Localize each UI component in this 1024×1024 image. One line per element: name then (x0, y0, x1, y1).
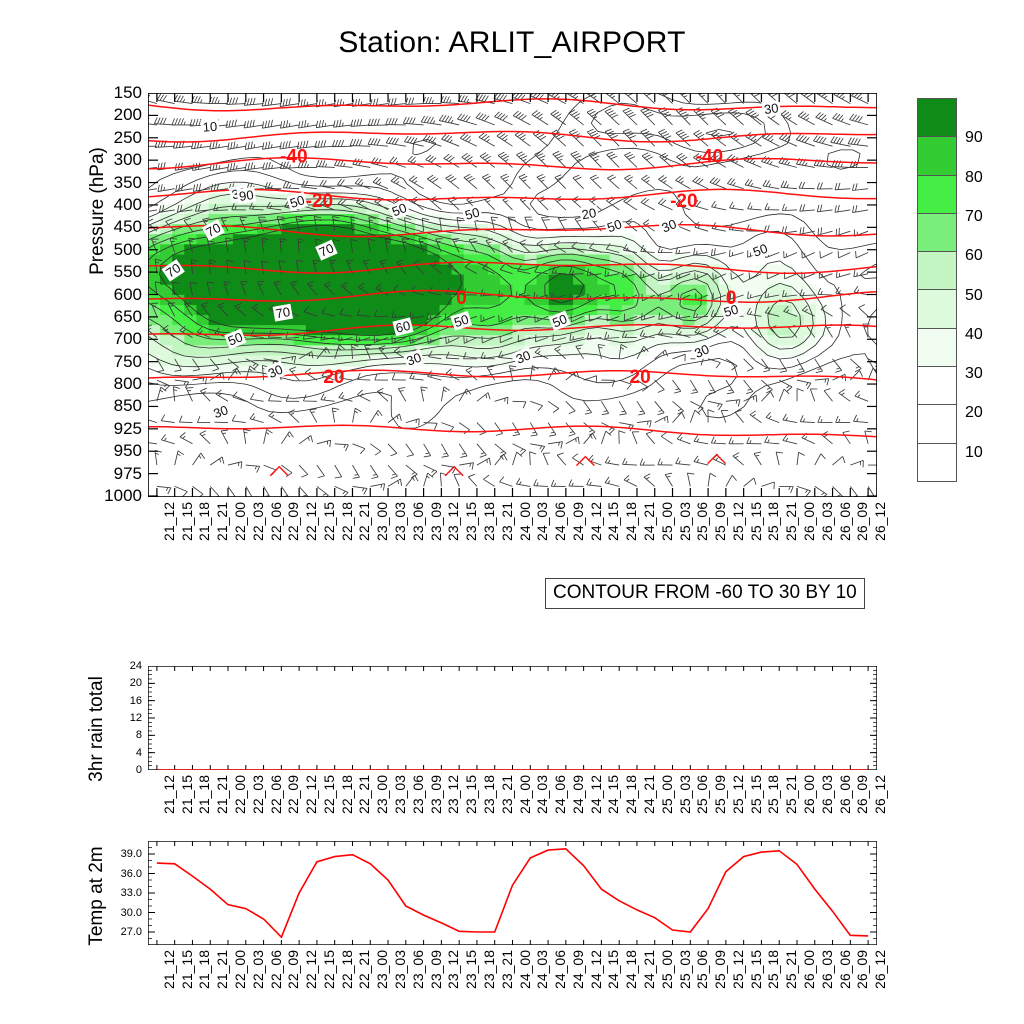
colorbar-tick-label: 10 (965, 444, 983, 462)
time-tick-label: 26_06 (837, 775, 853, 814)
time-tick-label: 23_03 (392, 775, 408, 814)
pressure-tick-label: 925 (82, 420, 142, 437)
colorbar-tick-label: 20 (965, 404, 983, 422)
cross-section-canvas: 1030309050505070707050305070506050505030… (148, 93, 877, 497)
time-tick-label: 24_21 (641, 950, 657, 989)
time-tick-label: 25_15 (748, 502, 764, 541)
time-tick-label: 21_21 (214, 950, 230, 989)
time-tick-label: 22_21 (356, 502, 372, 541)
time-tick-label: 23_21 (499, 775, 515, 814)
axis-tick-label: 33.0 (98, 887, 142, 899)
time-tick-label: 26_00 (801, 502, 817, 541)
time-tick-label: 26_03 (819, 502, 835, 541)
pressure-tick-label: 975 (82, 465, 142, 482)
time-tick-label: 24_00 (517, 775, 533, 814)
axis-tick-label: 27.0 (98, 926, 142, 938)
time-tick-label: 23_12 (445, 502, 461, 541)
time-tick-label: 24_12 (588, 950, 604, 989)
time-tick-label: 23_21 (499, 950, 515, 989)
axis-tick-label: 8 (98, 729, 142, 741)
time-tick-label: 24_15 (605, 502, 621, 541)
time-tick-label: 25_15 (748, 950, 764, 989)
time-tick-label: 22_15 (321, 950, 337, 989)
time-tick-label: 24_12 (588, 775, 604, 814)
time-tick-label: 22_18 (339, 502, 355, 541)
time-tick-label: 25_00 (659, 950, 675, 989)
time-tick-label: 23_15 (463, 775, 479, 814)
time-tick-label: 23_06 (410, 775, 426, 814)
humidity-contour-label: 10 (200, 119, 219, 135)
axis-tick-label: 16 (98, 695, 142, 707)
time-tick-label: 23_18 (481, 950, 497, 989)
time-tick-label: 24_18 (623, 502, 639, 541)
colorbar-tick-label: 30 (965, 365, 983, 383)
temp-canvas (148, 841, 877, 945)
colorbar-tick-label: 40 (965, 326, 983, 344)
time-tick-label: 26_03 (819, 775, 835, 814)
isotherm-label: -40 (696, 147, 723, 168)
temp-xaxis-labels: 21_1221_1521_1821_2122_0022_0322_0622_09… (148, 948, 877, 1012)
time-tick-label: 25_06 (694, 775, 710, 814)
colorbar-tick-label: 80 (965, 169, 983, 187)
pressure-tick-label: 150 (82, 84, 142, 101)
time-tick-label: 22_06 (268, 502, 284, 541)
time-tick-label: 24_21 (641, 775, 657, 814)
colorbar-swatch (917, 136, 957, 175)
contour-range-note: CONTOUR FROM -60 TO 30 BY 10 (545, 578, 865, 609)
svg-text:10: 10 (202, 119, 217, 135)
pressure-tick-label: 200 (82, 106, 142, 123)
time-tick-label: 24_18 (623, 950, 639, 989)
time-tick-label: 23_00 (374, 950, 390, 989)
time-tick-label: 26_09 (854, 950, 870, 989)
humidity-contour-label: 30 (761, 100, 781, 117)
time-tick-label: 23_03 (392, 502, 408, 541)
time-tick-label: 26_06 (837, 502, 853, 541)
humidity-contour-label: 90 (236, 187, 256, 204)
pressure-tick-label: 650 (82, 308, 142, 325)
main-xaxis-labels: 21_1221_1521_1821_2122_0022_0322_0622_09… (148, 500, 877, 564)
time-tick-label: 23_21 (499, 502, 515, 541)
time-tick-label: 23_00 (374, 775, 390, 814)
time-tick-label: 26_12 (872, 775, 888, 814)
time-tick-label: 26_06 (837, 950, 853, 989)
colorbar-tick-label: 50 (965, 287, 983, 305)
pressure-tick-label: 400 (82, 196, 142, 213)
time-tick-label: 24_21 (641, 502, 657, 541)
colorbar-swatch (917, 213, 957, 252)
temp-yaxis-ticks: 27.030.033.036.039.0 (98, 841, 148, 945)
time-tick-label: 24_03 (534, 502, 550, 541)
colorbar-swatch (917, 175, 957, 214)
pressure-tick-label: 550 (82, 263, 142, 280)
svg-text:20: 20 (580, 205, 597, 222)
colorbar-swatch (917, 289, 957, 328)
time-tick-label: 25_21 (783, 502, 799, 541)
isotherm-label: -20 (306, 191, 333, 212)
time-tick-label: 24_06 (552, 502, 568, 541)
time-tick-label: 23_09 (428, 502, 444, 541)
colorbar[interactable]: 908070605040302010 (917, 99, 957, 492)
colorbar-swatch (917, 366, 957, 405)
time-tick-label: 22_03 (250, 775, 266, 814)
time-tick-label: 21_21 (214, 502, 230, 541)
time-tick-label: 23_18 (481, 502, 497, 541)
rain-canvas (148, 666, 877, 770)
time-tick-label: 23_18 (481, 775, 497, 814)
time-tick-label: 22_15 (321, 502, 337, 541)
pressure-tick-label: 800 (82, 375, 142, 392)
time-tick-label: 21_18 (196, 502, 212, 541)
time-tick-label: 25_12 (730, 502, 746, 541)
time-tick-label: 26_03 (819, 950, 835, 989)
pressure-tick-label: 300 (82, 151, 142, 168)
time-tick-label: 25_15 (748, 775, 764, 814)
axis-tick-label: 0 (98, 764, 142, 776)
time-tick-label: 26_12 (872, 950, 888, 989)
time-tick-label: 23_03 (392, 950, 408, 989)
isotherm-label: 20 (323, 367, 344, 388)
time-tick-label: 22_09 (285, 502, 301, 541)
svg-text:90: 90 (238, 187, 254, 204)
time-tick-label: 21_12 (161, 502, 177, 541)
axis-tick-label: 12 (98, 712, 142, 724)
time-tick-label: 24_15 (605, 775, 621, 814)
time-tick-label: 22_12 (303, 502, 319, 541)
colorbar-swatch (917, 251, 957, 290)
pressure-tick-label: 350 (82, 174, 142, 191)
time-tick-label: 22_09 (285, 950, 301, 989)
time-tick-label: 21_15 (179, 775, 195, 814)
time-tick-label: 23_09 (428, 775, 444, 814)
colorbar-swatch (917, 443, 957, 482)
time-tick-label: 22_00 (232, 775, 248, 814)
colorbar-tick-label: 70 (965, 208, 983, 226)
pressure-tick-label: 850 (82, 397, 142, 414)
time-tick-label: 23_12 (445, 950, 461, 989)
isotherm-label: 20 (630, 367, 651, 388)
time-tick-label: 24_06 (552, 950, 568, 989)
axis-tick-label: 36.0 (98, 868, 142, 880)
time-tick-label: 26_12 (872, 502, 888, 541)
time-tick-label: 24_03 (534, 950, 550, 989)
colorbar-tick-label: 60 (965, 247, 983, 265)
rain-panel[interactable] (148, 666, 877, 770)
colorbar-swatch (917, 328, 957, 367)
time-tick-label: 22_12 (303, 950, 319, 989)
time-tick-label: 25_03 (677, 775, 693, 814)
time-tick-label: 26_00 (801, 950, 817, 989)
pressure-tick-label: 500 (82, 241, 142, 258)
time-tick-label: 26_09 (854, 502, 870, 541)
time-tick-label: 23_06 (410, 502, 426, 541)
time-tick-label: 25_06 (694, 950, 710, 989)
svg-text:70: 70 (274, 304, 291, 321)
time-tick-label: 26_09 (854, 775, 870, 814)
time-tick-label: 22_03 (250, 502, 266, 541)
time-tick-label: 22_06 (268, 950, 284, 989)
time-tick-label: 22_03 (250, 950, 266, 989)
time-tick-label: 21_18 (196, 775, 212, 814)
pressure-tick-label: 450 (82, 218, 142, 235)
time-tick-label: 22_00 (232, 502, 248, 541)
pressure-tick-label: 950 (82, 442, 142, 459)
time-tick-label: 25_21 (783, 775, 799, 814)
axis-tick-label: 24 (98, 660, 142, 672)
time-tick-label: 22_15 (321, 775, 337, 814)
colorbar-tick-label: 90 (965, 129, 983, 147)
time-tick-label: 25_12 (730, 950, 746, 989)
time-tick-label: 21_15 (179, 502, 195, 541)
page-title: Station: ARLIT_AIRPORT (0, 26, 1024, 60)
axis-tick-label: 30.0 (98, 907, 142, 919)
pressure-tick-label: 750 (82, 353, 142, 370)
time-tick-label: 25_03 (677, 950, 693, 989)
colorbar-swatch (917, 98, 957, 137)
isotherm-label: -40 (280, 147, 307, 168)
time-tick-label: 25_21 (783, 950, 799, 989)
humidity-contour-label: 70 (273, 304, 293, 322)
time-tick-label: 21_18 (196, 950, 212, 989)
time-tick-label: 24_09 (570, 502, 586, 541)
time-tick-label: 21_12 (161, 775, 177, 814)
time-tick-label: 22_06 (268, 775, 284, 814)
time-tick-label: 22_21 (356, 775, 372, 814)
time-tick-label: 23_00 (374, 502, 390, 541)
time-tick-label: 24_00 (517, 502, 533, 541)
time-tick-label: 24_09 (570, 775, 586, 814)
time-tick-label: 22_12 (303, 775, 319, 814)
axis-tick-label: 20 (98, 677, 142, 689)
time-tick-label: 22_18 (339, 950, 355, 989)
time-tick-label: 25_18 (765, 502, 781, 541)
time-tick-label: 22_00 (232, 950, 248, 989)
rain-xaxis-labels: 21_1221_1521_1821_2122_0022_0322_0622_09… (148, 773, 877, 837)
pressure-tick-label: 250 (82, 129, 142, 146)
time-tick-label: 22_18 (339, 775, 355, 814)
main-yaxis-ticks: 1502002503003504004505005506006507007508… (78, 93, 142, 497)
time-tick-label: 25_09 (712, 950, 728, 989)
time-tick-label: 21_21 (214, 775, 230, 814)
time-tick-label: 24_09 (570, 950, 586, 989)
time-height-cross-section[interactable]: 1030309050505070707050305070506050505030… (148, 93, 877, 497)
time-tick-label: 23_15 (463, 502, 479, 541)
time-tick-label: 22_09 (285, 775, 301, 814)
time-tick-label: 21_12 (161, 950, 177, 989)
axis-tick-label: 39.0 (98, 848, 142, 860)
time-tick-label: 25_09 (712, 502, 728, 541)
time-tick-label: 25_06 (694, 502, 710, 541)
time-tick-label: 24_18 (623, 775, 639, 814)
pressure-tick-label: 700 (82, 330, 142, 347)
isotherm-label: -20 (670, 191, 697, 212)
isotherm-label: 0 (726, 288, 737, 309)
svg-text:30: 30 (763, 100, 779, 117)
time-tick-label: 25_03 (677, 502, 693, 541)
time-tick-label: 24_12 (588, 502, 604, 541)
axis-tick-label: 4 (98, 747, 142, 759)
isotherm-label: 0 (456, 288, 467, 309)
pressure-tick-label: 1000 (82, 487, 142, 504)
time-tick-label: 22_21 (356, 950, 372, 989)
time-tick-label: 25_12 (730, 775, 746, 814)
time-tick-label: 25_18 (765, 950, 781, 989)
time-tick-label: 21_15 (179, 950, 195, 989)
time-tick-label: 25_18 (765, 775, 781, 814)
time-tick-label: 24_15 (605, 950, 621, 989)
time-tick-label: 26_00 (801, 775, 817, 814)
colorbar-swatch (917, 404, 957, 443)
rain-yaxis-ticks: 04812162024 (104, 666, 148, 770)
humidity-contour-label: 20 (579, 205, 599, 223)
pressure-tick-label: 600 (82, 286, 142, 303)
time-tick-label: 23_09 (428, 950, 444, 989)
time-tick-label: 25_00 (659, 502, 675, 541)
temp-panel[interactable] (148, 841, 877, 945)
time-tick-label: 23_15 (463, 950, 479, 989)
time-tick-label: 23_06 (410, 950, 426, 989)
time-tick-label: 24_00 (517, 950, 533, 989)
time-tick-label: 23_12 (445, 775, 461, 814)
time-tick-label: 25_00 (659, 775, 675, 814)
time-tick-label: 25_09 (712, 775, 728, 814)
time-tick-label: 24_06 (552, 775, 568, 814)
time-tick-label: 24_03 (534, 775, 550, 814)
